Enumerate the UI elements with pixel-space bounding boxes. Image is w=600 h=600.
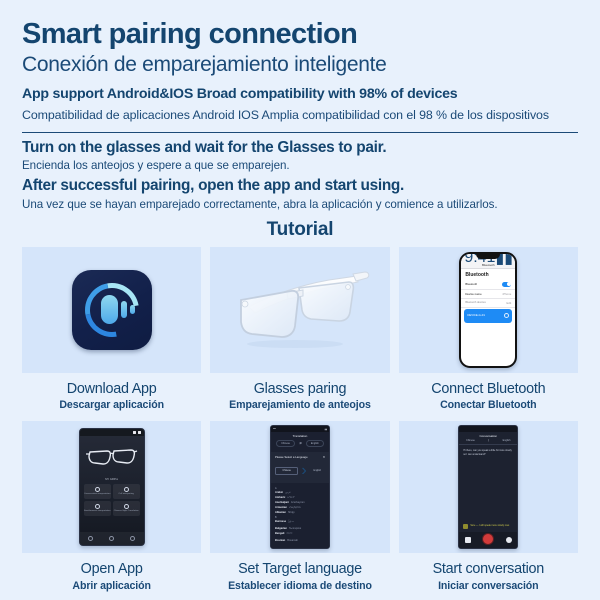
glasses-illustration [80,436,144,478]
app-logo-icon [72,270,152,350]
tutorial-heading: Tutorial [22,219,578,241]
caption-spanish: Abrir aplicación [24,580,199,593]
info-icon[interactable] [504,313,509,318]
caption-english: Start conversation [401,561,576,578]
speaker-badge-icon [463,524,468,529]
list-item[interactable]: Burmeseမြန်မာ [275,520,325,524]
app-home-screen: MY GRPxx Conversation interpretation Cal… [80,429,144,545]
phone-icon [124,487,129,492]
tutorial-card-glasses-pairing[interactable]: Glasses paring Emparejamiento de anteojo… [210,247,389,421]
nav-title: Bluetooth [482,263,495,267]
header-divider [22,132,578,133]
language-list[interactable]: A Arabicعربي Amharicአማርኛ AzerbaijaniAzər… [271,483,329,548]
section-label: Bluetooth devices [465,301,485,304]
caption-english: Download App [24,381,199,398]
card-image-android-conversation: Conversation Chinese | English Hi there,… [399,421,578,553]
caption: Set Target language Establecer idioma de… [210,553,389,600]
caption: Open App Abrir aplicación [22,553,201,600]
microphone-icon [95,487,100,492]
tile-call-interpreting[interactable]: Call interpreting [113,484,140,499]
card-image-android-app-home: MY GRPxx Conversation interpretation Cal… [22,421,201,553]
conversation-message: Hi there, can you speak a little bit mor… [459,445,517,456]
caption-english: Open App [24,561,199,578]
conversation-controls [459,532,517,548]
glasses-outline-icon [86,444,138,470]
list-item[interactable]: ArmenianՀայերեն [275,506,325,509]
list-item[interactable]: Arabicعربي [275,491,325,494]
caption-spanish: Descargar aplicación [24,399,199,412]
close-icon[interactable]: ✕ [323,455,325,459]
app-soundwave-bar-small-icon [130,305,135,314]
list-item[interactable]: AlbanianShqip [275,511,325,514]
caption-english: Connect Bluetooth [401,381,576,398]
status-right: ▮▮ [325,428,327,431]
card-image-app-icon [22,247,201,373]
list-item[interactable]: Bulgarianбългарски [275,527,325,530]
caption-spanish: Conectar Bluetooth [401,399,576,412]
tile-label: Conversation interpretation [84,493,110,495]
letter-header-b: B [275,516,325,519]
settings-icon[interactable] [506,537,512,543]
tutorial-card-connect-bluetooth[interactable]: 9:41 ▮▮ Bluetooth Bluetooth Bluetooth D [399,247,578,421]
tutorial-card-set-target-language[interactable]: ▪▪▪▪ ▮▮ Translation Chinese ⇄ English Pl… [210,421,389,600]
app-soundwave-bar-large-icon [121,301,127,318]
caption-spanish: Iniciar conversación [401,580,576,593]
conversation-screen: Conversation Chinese | English Hi there,… [459,426,517,548]
translate-icon [124,504,129,509]
tile-simultaneous-interpretation[interactable]: Simultaneous interpretation [84,501,111,516]
battery-icon [133,431,136,434]
tutorial-grid-row-2: MY GRPxx Conversation interpretation Cal… [22,421,578,600]
waveform-icon [95,504,100,509]
android-phone-frame: MY GRPxx Conversation interpretation Cal… [79,428,145,546]
tile-chinese-style-translation[interactable]: Chinese-Style Translation [113,501,140,516]
screen-title: Conversation [459,432,517,439]
bluetooth-toggle-row[interactable]: Bluetooth [461,280,515,290]
step-2-english: After successful pairing, open the app a… [22,176,578,195]
tile-conversation-interpretation[interactable]: Conversation interpretation [84,484,111,499]
panel-title: Please Select a Language [275,455,308,459]
bluetooth-toggle-switch[interactable] [502,282,511,287]
language-tabs: Chinese ⇄ English [271,439,329,450]
page-title-spanish: Conexión de emparejamiento inteligente [22,52,578,78]
arrow-icon: › [301,462,306,480]
tab-target-language[interactable]: English [503,439,511,442]
language-picker-panel: Please Select a Language ✕ Chinese › Eng… [271,452,329,483]
steps-block: Turn on the glasses and wait for the Gla… [22,138,578,212]
compatibility-line-spanish: Compatibilidad de aplicaciones Android I… [22,107,578,123]
keyboard-icon[interactable] [465,537,471,543]
record-button[interactable] [482,533,494,545]
page-title: Smart pairing connection [22,18,578,50]
header: Smart pairing connection Conexión de emp… [22,0,578,123]
caption: Start conversation Iniciar conversación [399,553,578,600]
list-item[interactable]: Bengaliবাংলা [275,532,325,537]
device-name-row[interactable]: Device name iPhone [461,290,515,299]
iphone-frame: 9:41 ▮▮ Bluetooth Bluetooth Bluetooth D [459,252,517,368]
connected-device-label: MY GRPxx [80,478,144,481]
nav-profile-icon[interactable] [130,536,135,541]
panel-header: Please Select a Language ✕ [275,455,325,459]
status-left: ▪▪▪▪ [273,428,276,430]
caption: Connect Bluetooth Conectar Bluetooth [399,373,578,421]
row-label: Device name [465,292,481,296]
tutorial-card-start-conversation[interactable]: Conversation Chinese | English Hi there,… [399,421,578,600]
signal-icon [138,431,141,434]
conversation-reply-text: Sure — I will speak more slowly now. [470,524,509,527]
step-1-english: Turn on the glasses and wait for the Gla… [22,138,578,157]
caption: Glasses paring Emparejamiento de anteojo… [210,373,389,421]
compatibility-line-english: App support Android&IOS Broad compatibil… [22,86,578,103]
card-image-iphone-bluetooth: 9:41 ▮▮ Bluetooth Bluetooth Bluetooth D [399,247,578,373]
paired-device-name: DEVICE-G-01 [467,314,485,317]
nav-device-icon[interactable] [109,536,114,541]
tab-divider: | [488,439,489,442]
caption-english: Set Target language [212,561,387,578]
tutorial-card-open-app[interactable]: MY GRPxx Conversation interpretation Cal… [22,421,201,600]
caption-english: Glasses paring [212,381,387,398]
app-speaker-icon [101,295,118,324]
picker-row: Chinese › English [275,462,325,480]
android-phone-frame: ▪▪▪▪ ▮▮ Translation Chinese ⇄ English Pl… [270,425,330,549]
status-bar [80,429,144,436]
tutorial-grid-row-1: Download App Descargar aplicación [22,247,578,421]
row-label: Bluetooth [465,282,477,286]
feature-tiles: Conversation interpretation Call interpr… [80,484,144,516]
step-1-spanish: Encienda los anteojos y espere a que se … [22,158,578,173]
conversation-reply: Sure — I will speak more slowly now. [459,521,517,532]
paired-device-row[interactable]: DEVICE-G-01 [464,309,512,323]
list-item[interactable]: BosnianBosanski [275,539,325,542]
list-item[interactable]: Amharicአማርኛ [275,496,325,499]
devices-section-row: Bluetooth devices Edit [461,299,515,308]
iphone-notch [476,254,500,259]
picker-source[interactable]: Chinese [275,467,298,475]
row-value: iPhone [503,292,512,296]
iphone-screen: 9:41 ▮▮ Bluetooth Bluetooth Bluetooth D [461,254,515,366]
caption-spanish: Establecer idioma de destino [212,580,387,593]
card-image-glasses [210,247,389,373]
tile-label: Call interpreting [118,493,133,495]
tile-label: Chinese-Style Translation [114,510,139,512]
section-action[interactable]: Edit [506,301,511,305]
picker-target[interactable]: English [310,470,325,472]
bottom-nav-bar [80,532,144,545]
letter-header-a: A [275,487,325,490]
android-phone-frame: Conversation Chinese | English Hi there,… [458,425,518,549]
glasses-icon [225,260,375,360]
tab-target-language[interactable]: English [306,440,324,447]
card-image-android-language-list: ▪▪▪▪ ▮▮ Translation Chinese ⇄ English Pl… [210,421,389,553]
nav-home-icon[interactable] [88,536,93,541]
step-2-spanish: Una vez que se hayan emparejado correcta… [22,197,578,212]
caption: Download App Descargar aplicación [22,373,201,421]
screen-title: Translation [271,432,329,439]
caption-spanish: Emparejamiento de anteojos [212,399,387,412]
tile-label: Simultaneous interpretation [84,510,111,512]
language-select-screen: ▪▪▪▪ ▮▮ Translation Chinese ⇄ English Pl… [271,426,329,548]
list-item[interactable]: AzerbaijaniAzərbaycan [275,501,325,504]
infographic-page: Smart pairing connection Conexión de emp… [0,0,600,600]
tab-source-language[interactable]: Chinese [466,439,475,442]
tab-source-language[interactable]: Chinese [276,440,295,447]
swap-icon[interactable]: ⇄ [299,442,301,445]
screen-title: Bluetooth [461,269,515,280]
tutorial-card-download-app[interactable]: Download App Descargar aplicación [22,247,201,421]
